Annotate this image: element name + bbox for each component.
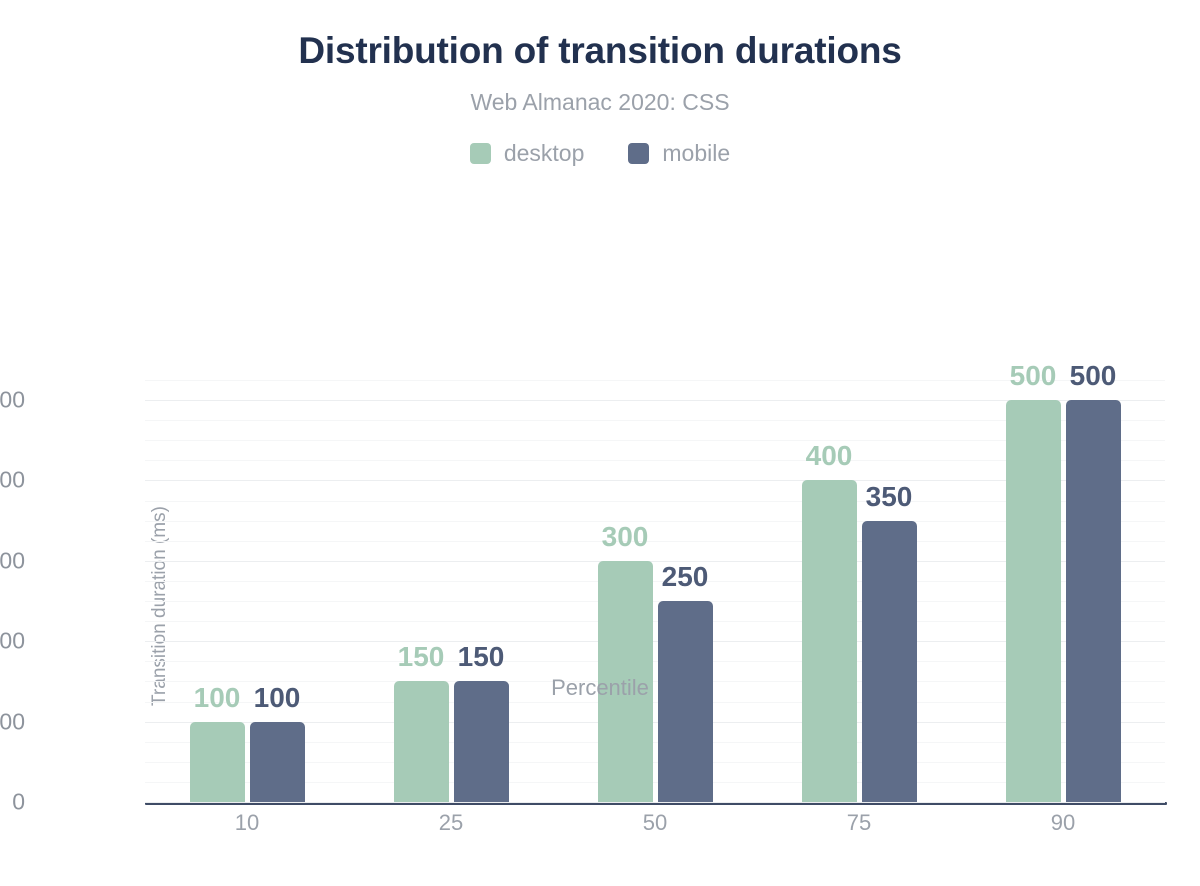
x-axis-tick-label: 25 (371, 810, 531, 836)
bar-label-mobile-p25: 150 (421, 641, 541, 673)
y-axis-tick-label: 0 (0, 789, 25, 816)
bar-mobile-p10[interactable] (250, 722, 305, 802)
legend-swatch-desktop-icon (470, 143, 491, 164)
bar-desktop-p75[interactable] (802, 480, 857, 802)
y-axis-tick-label: 500 (0, 387, 25, 414)
bar-mobile-p50[interactable] (658, 601, 713, 802)
plot-area: Transition duration (ms) 010020030040050… (145, 195, 1165, 607)
legend-item-desktop[interactable]: desktop (470, 140, 585, 167)
chart-figure: Distribution of transition durations Web… (0, 0, 1200, 742)
y-axis-tick-label: 300 (0, 547, 25, 574)
chart-title: Distribution of transition durations (0, 30, 1200, 72)
bar-label-mobile-p50: 250 (625, 561, 745, 593)
x-axis-tick-label: 75 (779, 810, 939, 836)
legend-label-mobile: mobile (662, 140, 730, 167)
y-axis-tick-label: 200 (0, 628, 25, 655)
x-axis-tick-label: 10 (167, 810, 327, 836)
bar-label-mobile-p75: 350 (829, 481, 949, 513)
gridline (145, 802, 1165, 803)
bar-mobile-p75[interactable] (862, 521, 917, 802)
bar-label-desktop-p75: 400 (769, 440, 889, 472)
legend-item-mobile[interactable]: mobile (628, 140, 730, 167)
x-axis-tick-label: 50 (575, 810, 735, 836)
bar-label-mobile-p90: 500 (1033, 360, 1153, 392)
x-axis-tick-label: 90 (983, 810, 1143, 836)
bar-label-desktop-p50: 300 (565, 521, 685, 553)
x-axis-title: Percentile (0, 675, 1200, 701)
chart-subtitle: Web Almanac 2020: CSS (0, 89, 1200, 116)
legend-label-desktop: desktop (504, 140, 585, 167)
chart-legend: desktop mobile (0, 140, 1200, 167)
y-axis-tick-label: 400 (0, 467, 25, 494)
y-axis-tick-label: 100 (0, 708, 25, 735)
legend-swatch-mobile-icon (628, 143, 649, 164)
bar-desktop-p10[interactable] (190, 722, 245, 802)
